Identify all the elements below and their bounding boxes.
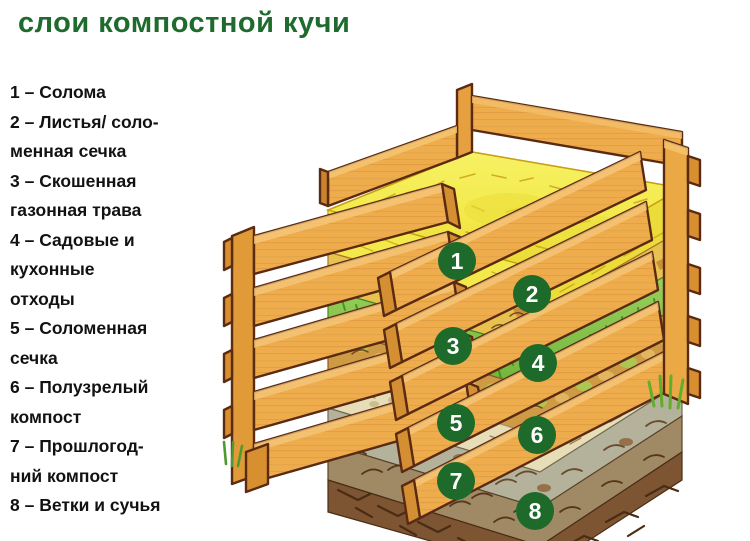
layer-marker-2[interactable]: 2 xyxy=(513,275,551,313)
legend-line: 1 – Солома xyxy=(10,78,235,108)
post-back-top xyxy=(457,84,472,158)
legend-line: 7 – Прошлогод- xyxy=(10,432,235,462)
legend-line: 4 – Садовые и xyxy=(10,226,235,256)
infographic-root: слои компостной кучи 1 – Солома 2 – Лист… xyxy=(0,0,750,541)
compost-bin-illustration xyxy=(210,60,750,541)
layer-marker-label: 8 xyxy=(529,500,542,523)
layer-marker-label: 3 xyxy=(447,335,460,358)
legend-line: отходы xyxy=(10,285,235,315)
legend-line: сечка xyxy=(10,344,235,374)
legend-line: газонная трава xyxy=(10,196,235,226)
layer-marker-label: 5 xyxy=(450,412,463,435)
layer-marker-5[interactable]: 5 xyxy=(437,404,475,442)
back-wall-rail xyxy=(472,96,682,166)
layer-marker-6[interactable]: 6 xyxy=(518,416,556,454)
page-title: слои компостной кучи xyxy=(18,4,538,42)
legend-line: менная сечка xyxy=(10,137,235,167)
legend-line: компост xyxy=(10,403,235,433)
legend-line: ний компост xyxy=(10,462,235,492)
layer-marker-8[interactable]: 8 xyxy=(516,492,554,530)
layer-marker-label: 6 xyxy=(531,424,544,447)
layer-marker-3[interactable]: 3 xyxy=(434,327,472,365)
layer-marker-label: 2 xyxy=(526,283,539,306)
legend-line: 6 – Полузрелый xyxy=(10,373,235,403)
layer-marker-7[interactable]: 7 xyxy=(437,462,475,500)
legend-line: кухонные xyxy=(10,255,235,285)
legend-line: 3 – Скошенная xyxy=(10,167,235,197)
layer-marker-4[interactable]: 4 xyxy=(519,344,557,382)
legend-line: 5 – Соломенная xyxy=(10,314,235,344)
legend-line: 8 – Ветки и сучья xyxy=(10,491,235,521)
legend-list: 1 – Солома 2 – Листья/ соло- менная сечк… xyxy=(10,78,235,521)
layer-marker-label: 1 xyxy=(451,250,464,273)
layer-marker-label: 7 xyxy=(450,470,463,493)
post-left-front-bottom xyxy=(246,444,268,492)
post-right xyxy=(664,140,688,404)
layer-marker-1[interactable]: 1 xyxy=(438,242,476,280)
legend-line: 2 – Листья/ соло- xyxy=(10,108,235,138)
layer-marker-label: 4 xyxy=(532,352,545,375)
